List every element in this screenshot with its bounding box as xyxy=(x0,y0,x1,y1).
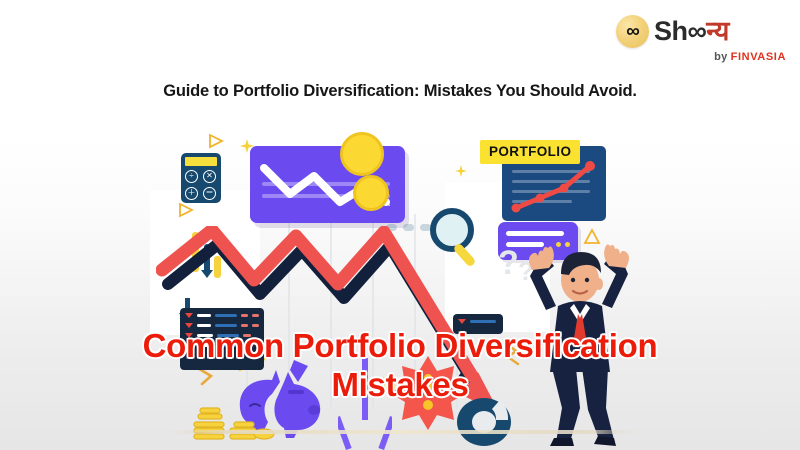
logo-wordmark-infinity: ∞ xyxy=(688,18,707,45)
infinity-coin-icon: ∞ xyxy=(616,15,649,48)
logo-wordmark-latin: Sh xyxy=(654,18,688,45)
headline-line-2: Mistakes xyxy=(0,365,800,404)
calculator-screen xyxy=(185,157,217,166)
headline-line-1: Common Portfolio Diversification xyxy=(143,327,658,364)
brand-logo[interactable]: ∞ Sh ∞ न्य by FINVASIA xyxy=(616,12,786,66)
logo-infinity-glyph: ∞ xyxy=(626,22,639,41)
calculator-key: ＝ xyxy=(203,187,216,200)
gold-coins-icon xyxy=(340,132,384,176)
logo-byline-prefix: by xyxy=(714,51,727,63)
page-title: Guide to Portfolio Diversification: Mist… xyxy=(0,82,800,101)
ground-shadow xyxy=(168,430,638,434)
outline-triangle-icon xyxy=(178,202,194,223)
logo-row: ∞ Sh ∞ न्य xyxy=(616,12,786,50)
calculator-icon: ÷ ✕ ＋ ＝ xyxy=(181,153,221,203)
logo-byline-brand: FINVASIA xyxy=(731,51,786,63)
calculator-key: ＋ xyxy=(185,187,198,200)
calculator-key: ÷ xyxy=(185,170,198,183)
logo-wordmark-devanagari: न्य xyxy=(706,18,729,45)
logo-byline: by FINVASIA xyxy=(616,51,786,63)
calculator-keys: ÷ ✕ ＋ ＝ xyxy=(185,170,217,200)
headline: Common Portfolio Diversification Mistake… xyxy=(0,326,800,404)
portfolio-banner: PORTFOLIO xyxy=(480,140,580,164)
logo-wordmark: Sh ∞ न्य xyxy=(654,18,729,45)
calculator-key: ✕ xyxy=(203,170,216,183)
gold-coins-icon xyxy=(353,175,389,211)
outline-triangle-icon xyxy=(208,133,224,154)
poster-canvas: ∞ Sh ∞ न्य by FINVASIA Guide to Portfoli… xyxy=(0,0,800,450)
gold-coins-icon xyxy=(190,400,276,450)
rising-chart-line-icon xyxy=(508,156,604,223)
sparkle-icon xyxy=(455,164,467,182)
